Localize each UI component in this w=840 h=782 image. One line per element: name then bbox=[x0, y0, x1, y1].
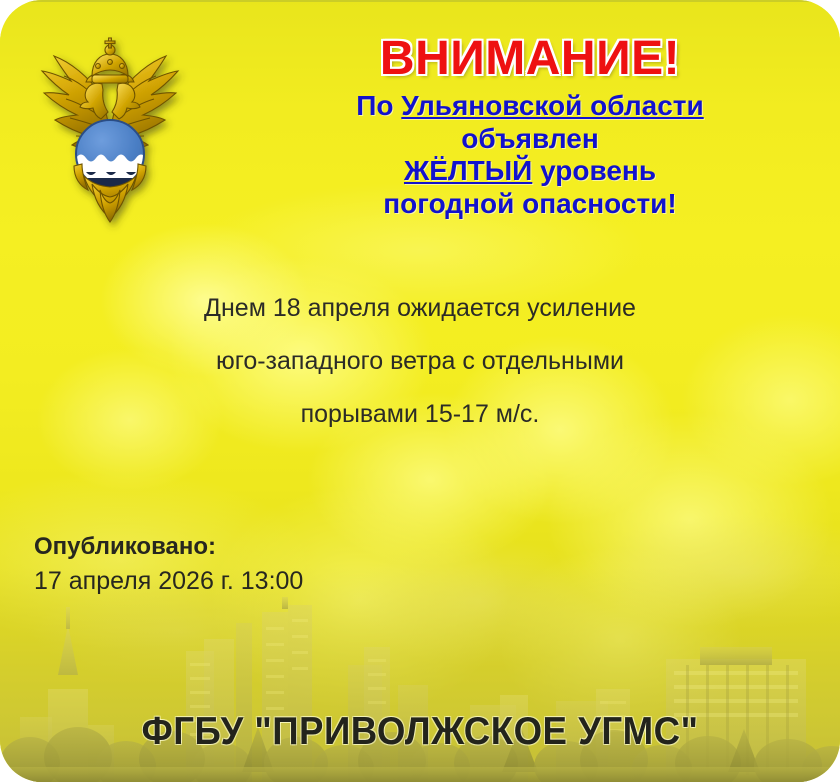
level-line: ЖЁЛТЫЙ уровень bbox=[240, 155, 820, 188]
declared-line: объявлен bbox=[240, 123, 820, 156]
roshydromet-emblem-icon bbox=[30, 26, 190, 236]
imperial-crown bbox=[92, 38, 128, 83]
danger-line: погодной опасности! bbox=[240, 188, 820, 221]
published-label: Опубликовано: bbox=[34, 530, 303, 563]
region-line: По Ульяновской области bbox=[240, 90, 820, 123]
published-datetime: 17 апреля 2026 г. 13:00 bbox=[34, 563, 303, 599]
forecast-body: Днем 18 апреля ожидается усиление юго-за… bbox=[60, 282, 780, 441]
top-edge-line bbox=[0, 0, 840, 2]
region-prefix: По bbox=[356, 90, 401, 121]
attention-headline: ВНИМАНИЕ! bbox=[240, 34, 820, 84]
level-suffix: уровень bbox=[532, 155, 656, 186]
region-name: Ульяновской области bbox=[401, 90, 703, 121]
forecast-line-1: Днем 18 апреля ожидается усиление bbox=[60, 282, 780, 335]
forecast-line-3: порывами 15-17 м/с. bbox=[60, 388, 780, 441]
weather-warning-card: ВНИМАНИЕ! По Ульяновской области объявле… bbox=[0, 0, 840, 782]
organization-name: ФГБУ "ПРИВОЛЖСКОЕ УГМС" bbox=[25, 710, 815, 754]
published-block: Опубликовано: 17 апреля 2026 г. 13:00 bbox=[34, 530, 303, 599]
danger-level: ЖЁЛТЫЙ bbox=[404, 155, 532, 186]
forecast-line-2: юго-западного ветра с отдельными bbox=[60, 335, 780, 388]
alert-header-block: ВНИМАНИЕ! По Ульяновской области объявле… bbox=[240, 34, 820, 221]
